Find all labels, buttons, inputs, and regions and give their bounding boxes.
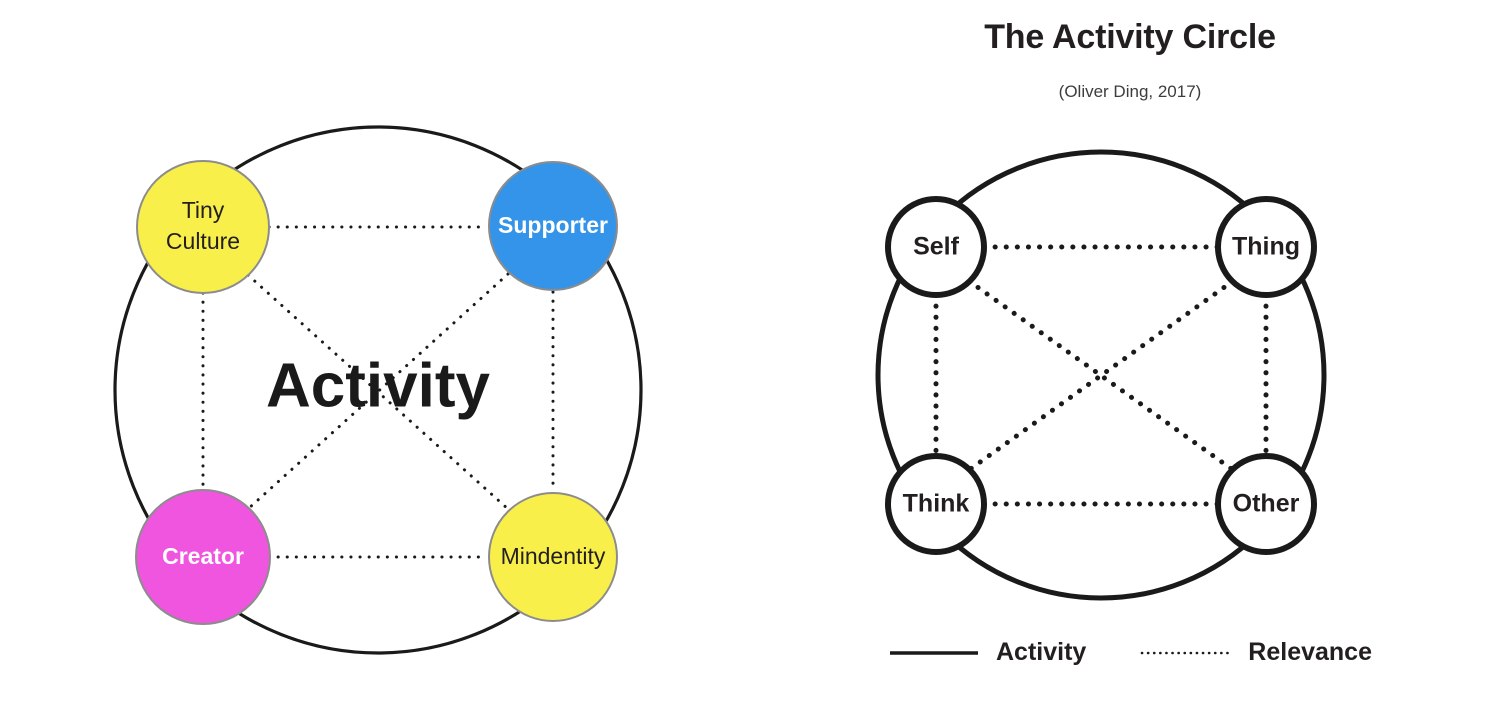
right-diagram-panel: The Activity Circle (Oliver Ding, 2017) … [760,0,1500,708]
dotted-line-icon [1140,646,1232,660]
node-mindentity[interactable]: Mindentity [489,493,617,621]
node-thing[interactable]: Thing [1218,199,1314,295]
node-creator[interactable]: Creator [136,490,270,624]
node-think[interactable]: Think [888,456,984,552]
node-label-tiny-culture-line1: Tiny [182,197,225,223]
node-other[interactable]: Other [1218,456,1314,552]
node-self[interactable]: Self [888,199,984,295]
legend-item-relevance: Relevance [1140,638,1372,667]
legend-item-activity: Activity [888,638,1086,667]
node-label-self: Self [913,233,960,261]
node-supporter[interactable]: Supporter [489,162,617,290]
left-diagram-svg: Activity Tiny Culture Supporter Creator … [0,0,760,708]
activity-circle-diagram: Activity Tiny Culture Supporter Creator … [0,0,1500,708]
node-label-thing: Thing [1232,233,1300,261]
node-circle-tiny-culture[interactable] [137,161,269,293]
legend-label-activity: Activity [996,638,1086,667]
left-center-label: Activity [266,351,490,420]
node-label-think: Think [903,490,970,518]
node-label-mindentity: Mindentity [501,543,606,569]
page-title: The Activity Circle [760,18,1500,57]
solid-line-icon [888,646,980,660]
node-label-creator: Creator [162,543,244,569]
legend-label-relevance: Relevance [1248,638,1372,667]
legend: Activity Relevance [760,638,1500,667]
page-subtitle: (Oliver Ding, 2017) [760,82,1500,102]
node-label-other: Other [1233,490,1300,518]
node-tiny-culture[interactable]: Tiny Culture [137,161,269,293]
right-diagram-svg: Self Thing Think Other [760,120,1500,680]
node-label-supporter: Supporter [498,212,608,238]
left-diagram-panel: Activity Tiny Culture Supporter Creator … [0,0,760,708]
relevance-links-right [936,247,1266,504]
node-label-tiny-culture-line2: Culture [166,228,240,254]
